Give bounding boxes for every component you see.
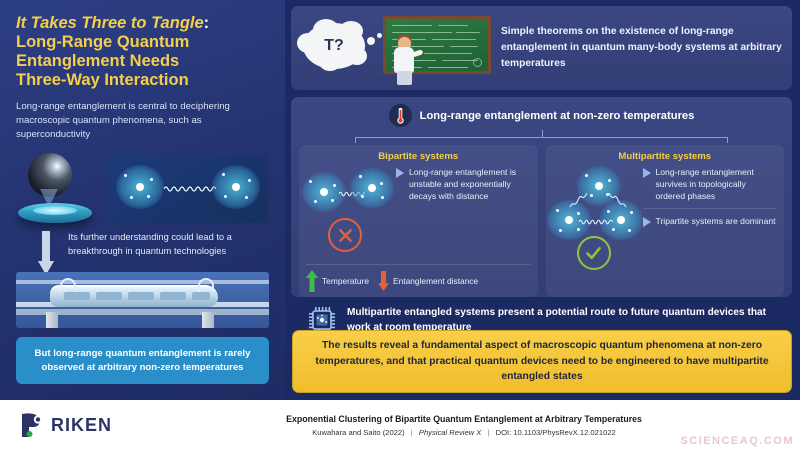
atom-cluster-icon xyxy=(350,168,394,208)
arrow-note-row: Its further understanding could lead to … xyxy=(16,231,269,273)
triangle-bullet-icon xyxy=(643,168,651,178)
theorem-panel: T? xyxy=(291,6,792,90)
citation: Exponential Clustering of Bipartite Quan… xyxy=(168,414,800,437)
bipartite-bullets: Long-range entanglement is unstable and … xyxy=(396,166,531,274)
down-arrow-icon xyxy=(378,271,389,291)
entanglement-wave-icon xyxy=(569,192,589,208)
maglev-train-illustration xyxy=(16,272,269,328)
list-item: Tripartite systems are dominant xyxy=(643,215,778,227)
legend-entanglement-distance: Entanglement distance xyxy=(378,271,478,291)
entangled-atom-pair xyxy=(116,165,262,211)
watermark: SCIENCEAQ.COM xyxy=(680,435,794,447)
triangle-bullet-icon xyxy=(396,168,404,178)
legend-temperature-label: Temperature xyxy=(322,276,369,286)
entangled-atoms-panel xyxy=(108,155,268,223)
lead-paragraph: Long-range entanglement is central to de… xyxy=(16,100,266,143)
title-colon: : xyxy=(204,14,210,32)
list-item: Long-range entanglement survives in topo… xyxy=(643,166,778,203)
list-item: Long-range entanglement is unstable and … xyxy=(396,166,531,203)
bipartite-subpanel: Bipartite systems xyxy=(299,145,538,297)
legend-temperature: Temperature xyxy=(306,270,369,292)
entanglement-wave-icon xyxy=(607,192,627,208)
footer: RIKEN Exponential Clustering of Bipartit… xyxy=(0,400,800,450)
multipartite-bullet-2: Tripartite systems are dominant xyxy=(656,215,776,227)
title-line-1: It Takes Three to Tangle: xyxy=(16,14,269,33)
entanglement-panel-title: Long-range entanglement at non-zero temp… xyxy=(420,110,695,122)
blackboard-illustration xyxy=(375,11,493,85)
multipartite-subpanel: Multipartite systems xyxy=(546,145,785,297)
entanglement-panel-header: Long-range entanglement at non-zero temp… xyxy=(299,104,784,127)
paper-authors: Kuwahara and Saito (2022) xyxy=(312,428,404,437)
bipartite-legend: Temperature Entanglement distance xyxy=(306,264,531,292)
hero-illustration xyxy=(16,153,268,225)
infographic-poster: It Takes Three to Tangle: Long-Range Qua… xyxy=(0,0,800,450)
multipartite-bullet-1: Long-range entanglement survives in topo… xyxy=(656,166,778,203)
page-title: It Takes Three to Tangle: Long-Range Qua… xyxy=(16,14,269,91)
atom-cluster-icon xyxy=(116,165,164,209)
bipartite-figure xyxy=(306,166,392,274)
thought-bubble-icon: T? xyxy=(297,17,375,79)
superconductor-disk-icon xyxy=(18,203,92,223)
multipartite-figure xyxy=(553,166,639,274)
theorem-text: Simple theorems on the existence of long… xyxy=(493,24,792,71)
atom-cluster-icon xyxy=(212,165,260,209)
paper-journal: Physical Review X xyxy=(419,428,481,437)
multipartite-bullets: Long-range entanglement survives in topo… xyxy=(643,166,778,274)
thermometer-icon xyxy=(389,104,412,127)
left-bottom-callout: But long-range quantum entanglement is r… xyxy=(16,337,269,384)
title-line-3: Entanglement Needs xyxy=(16,52,269,71)
riken-logo-text: RIKEN xyxy=(51,415,112,436)
down-arrow-icon xyxy=(38,231,54,275)
entanglement-panel: Long-range entanglement at non-zero temp… xyxy=(291,97,792,297)
paper-title: Exponential Clustering of Bipartite Quan… xyxy=(168,414,760,424)
systems-comparison: Bipartite systems xyxy=(299,145,784,297)
entanglement-wave-icon xyxy=(164,185,216,193)
conclusion-box: The results reveal a fundamental aspect … xyxy=(292,330,792,393)
bullet-divider xyxy=(643,208,778,209)
title-line-2: Long-Range Quantum xyxy=(16,33,269,52)
cross-icon xyxy=(328,218,362,252)
entanglement-wave-icon xyxy=(579,218,613,226)
branch-connector xyxy=(355,130,728,143)
paper-meta: Kuwahara and Saito (2022) | Physical Rev… xyxy=(168,428,760,437)
riken-logo-mark-icon xyxy=(18,410,48,440)
title-line-4: Three-Way Interaction xyxy=(16,71,269,90)
right-column: T? xyxy=(285,0,800,400)
up-arrow-icon xyxy=(306,270,318,292)
thought-bubble-label: T? xyxy=(303,23,365,69)
scientist-icon xyxy=(391,37,419,85)
triangle-bullet-icon xyxy=(643,217,651,227)
meta-separator-2: | xyxy=(487,428,489,437)
bipartite-bullet-1: Long-range entanglement is unstable and … xyxy=(409,166,531,203)
paper-doi: DOI: 10.1103/PhysRevX.12.021022 xyxy=(496,428,616,437)
meta-separator-1: | xyxy=(411,428,413,437)
check-icon xyxy=(577,236,611,270)
multipartite-title: Multipartite systems xyxy=(553,151,778,162)
riken-logo: RIKEN xyxy=(18,410,168,440)
left-column: It Takes Three to Tangle: Long-Range Qua… xyxy=(0,0,285,400)
bipartite-title: Bipartite systems xyxy=(306,151,531,162)
legend-distance-label: Entanglement distance xyxy=(393,276,478,286)
